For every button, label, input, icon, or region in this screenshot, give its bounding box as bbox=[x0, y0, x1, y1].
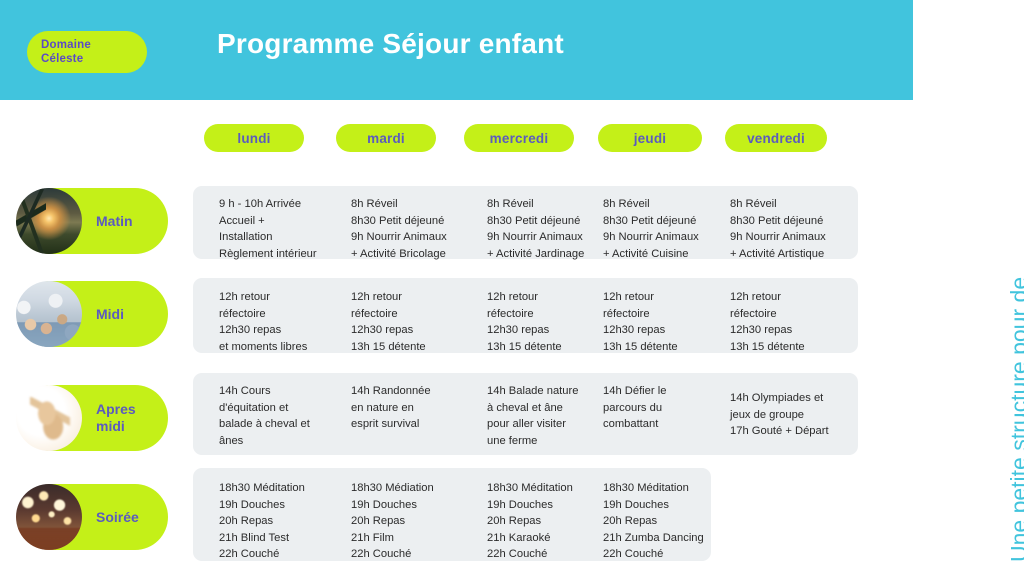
sunset-photo-thumbnail-icon bbox=[16, 188, 82, 254]
day-pill-mardi-label: mardi bbox=[367, 131, 405, 146]
cell-apres-midi-mardi: 14h Randonnée en nature en esprit surviv… bbox=[351, 383, 481, 433]
slide-canvas: Domaine Céleste Programme Séjour enfant … bbox=[0, 0, 1024, 576]
cell-apres-midi-lundi: 14h Cours d'équitation et balade à cheva… bbox=[219, 383, 345, 449]
cell-midi-vendredi: 12h retour réfectoire 12h30 repas 13h 15… bbox=[730, 289, 860, 355]
slot-pill-apres-midi[interactable]: Apres midi bbox=[18, 385, 168, 451]
side-caption: Une petite structure pour de grands mome… bbox=[880, 110, 1020, 570]
cell-matin-mercredi: 8h Réveil 8h30 Petit déjeuné 9h Nourrir … bbox=[487, 196, 619, 262]
cell-midi-mercredi: 12h retour réfectoire 12h30 repas 13h 15… bbox=[487, 289, 617, 355]
cell-apres-midi-jeudi: 14h Défier le parcours du combattant bbox=[603, 383, 713, 433]
cell-matin-lundi: 9 h - 10h Arrivée Accueil + Installation… bbox=[219, 196, 339, 262]
cell-matin-vendredi: 8h Réveil 8h30 Petit déjeuné 9h Nourrir … bbox=[730, 196, 862, 262]
slot-label-matin: Matin bbox=[96, 213, 133, 230]
slot-pill-matin[interactable]: Matin bbox=[18, 188, 168, 254]
cell-soiree-lundi: 18h30 Méditation 19h Douches 20h Repas 2… bbox=[219, 480, 349, 563]
cell-soiree-mardi: 18h30 Médiation 19h Douches 20h Repas 21… bbox=[351, 480, 481, 563]
day-pill-mercredi[interactable]: mercredi bbox=[464, 124, 574, 152]
slot-label-apres-midi: Apres midi bbox=[96, 401, 136, 435]
day-header-row: lundi mardi mercredi jeudi vendredi bbox=[0, 124, 880, 154]
canteen-photo-thumbnail-icon bbox=[16, 281, 82, 347]
side-caption-text: Une petite structure pour de grands mome… bbox=[998, 110, 1024, 562]
card-matin: 9 h - 10h Arrivée Accueil + Installation… bbox=[193, 186, 858, 259]
cell-midi-jeudi: 12h retour réfectoire 12h30 repas 13h 15… bbox=[603, 289, 731, 355]
day-pill-lundi[interactable]: lundi bbox=[204, 124, 304, 152]
slot-pill-midi[interactable]: Midi bbox=[18, 281, 168, 347]
day-pill-mardi[interactable]: mardi bbox=[336, 124, 436, 152]
brand-name-line-2: Céleste bbox=[41, 52, 147, 66]
slot-pill-soiree[interactable]: Soirée bbox=[18, 484, 168, 550]
brand-badge: Domaine Céleste bbox=[27, 31, 147, 73]
page-title: Programme Séjour enfant bbox=[217, 28, 564, 60]
party-lights-photo-thumbnail-icon bbox=[16, 484, 82, 550]
cell-matin-mardi: 8h Réveil 8h30 Petit déjeuné 9h Nourrir … bbox=[351, 196, 481, 262]
cell-apres-midi-vendredi: 14h Olympiades et jeux de groupe 17h Gou… bbox=[730, 390, 866, 440]
cell-soiree-jeudi: 18h30 Méditation 19h Douches 20h Repas 2… bbox=[603, 480, 729, 563]
cell-midi-lundi: 12h retour réfectoire 12h30 repas et mom… bbox=[219, 289, 339, 355]
cell-midi-mardi: 12h retour réfectoire 12h30 repas 13h 15… bbox=[351, 289, 481, 355]
card-midi: 12h retour réfectoire 12h30 repas et mom… bbox=[193, 278, 858, 353]
horse-photo-thumbnail-icon bbox=[16, 385, 82, 451]
card-soiree: 18h30 Méditation 19h Douches 20h Repas 2… bbox=[193, 468, 711, 561]
day-pill-jeudi-label: jeudi bbox=[634, 131, 667, 146]
day-pill-vendredi-label: vendredi bbox=[747, 131, 805, 146]
cell-apres-midi-mercredi: 14h Balade nature à cheval et âne pour a… bbox=[487, 383, 615, 449]
slot-label-midi: Midi bbox=[96, 306, 124, 323]
card-apres-midi: 14h Cours d'équitation et balade à cheva… bbox=[193, 373, 858, 455]
day-pill-vendredi[interactable]: vendredi bbox=[725, 124, 827, 152]
day-pill-mercredi-label: mercredi bbox=[490, 131, 549, 146]
cell-matin-jeudi: 8h Réveil 8h30 Petit déjeuné 9h Nourrir … bbox=[603, 196, 731, 262]
slot-label-soiree: Soirée bbox=[96, 509, 139, 526]
day-pill-jeudi[interactable]: jeudi bbox=[598, 124, 702, 152]
cell-soiree-mercredi: 18h30 Méditation 19h Douches 20h Repas 2… bbox=[487, 480, 617, 563]
brand-name-line-1: Domaine bbox=[41, 38, 147, 52]
day-pill-lundi-label: lundi bbox=[237, 131, 270, 146]
